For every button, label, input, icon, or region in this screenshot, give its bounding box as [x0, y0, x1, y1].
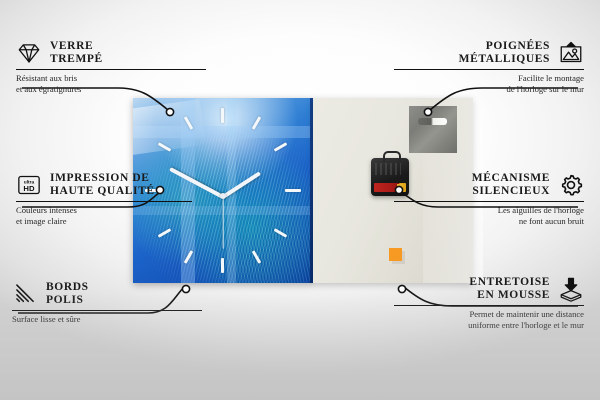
ultra-hd-icon: ultra HD — [16, 172, 42, 198]
feature-divider — [394, 69, 584, 70]
feature-divider — [394, 305, 584, 306]
feature-title: VERRE TREMPÉ — [50, 40, 103, 66]
feature-title: IMPRESSION DE HAUTE QUALITÉ — [50, 172, 155, 198]
feature-divider — [16, 201, 192, 202]
diamond-icon — [16, 40, 42, 66]
infographic-canvas: VERRE TREMPÉ Résistant aux bris et aux é… — [0, 0, 600, 400]
feature-impression-haute-qualite: ultra HD IMPRESSION DE HAUTE QUALITÉ Cou… — [16, 172, 192, 226]
feature-header: MÉCANISME SILENCIEUX — [394, 172, 584, 198]
handle-keyhole-slot — [418, 118, 447, 125]
foam-spacer — [389, 248, 402, 261]
feature-title: MÉCANISME SILENCIEUX — [472, 172, 550, 198]
second-hand — [222, 197, 223, 249]
feature-entretoise-en-mousse: ENTRETOISE EN MOUSSE Permet de maintenir… — [394, 276, 584, 330]
feature-description: Facilite le montage de l'horloge sur le … — [394, 73, 584, 94]
feature-poignees-metalliques: POIGNÉES MÉTALLIQUES Facilite le montage… — [394, 40, 584, 94]
hour-marker — [221, 258, 224, 273]
feature-description: Permet de maintenir une distance uniform… — [394, 309, 584, 330]
hanging-picture-icon — [558, 40, 584, 66]
feature-description: Les aiguilles de l'horloge ne font aucun… — [394, 205, 584, 226]
metal-handle-plate — [409, 106, 457, 153]
feature-bords-polis: BORDS POLIS Surface lisse et sûre — [12, 281, 202, 325]
hour-marker — [221, 108, 224, 123]
feature-divider — [394, 201, 584, 202]
feature-header: ENTRETOISE EN MOUSSE — [394, 276, 584, 302]
feature-title: ENTRETOISE EN MOUSSE — [469, 276, 550, 302]
feature-description: Résistant aux bris et aux égratignures — [16, 73, 206, 94]
feature-divider — [16, 69, 206, 70]
svg-text:HD: HD — [23, 184, 35, 193]
feature-header: POIGNÉES MÉTALLIQUES — [394, 40, 584, 66]
feature-title: POIGNÉES MÉTALLIQUES — [459, 40, 550, 66]
feature-mecanisme-silencieux: MÉCANISME SILENCIEUX Les aiguilles de l'… — [394, 172, 584, 226]
feature-divider — [12, 310, 202, 311]
clock-center-pin — [220, 193, 226, 199]
movement-hanger-hook — [383, 151, 401, 162]
gear-icon — [558, 172, 584, 198]
feature-header: BORDS POLIS — [12, 281, 202, 307]
polished-edge-icon — [12, 281, 38, 307]
feature-description: Surface lisse et sûre — [12, 314, 202, 325]
foam-spacer-icon — [558, 276, 584, 302]
feature-description: Couleurs intenses et image claire — [16, 205, 192, 226]
feature-header: ultra HD IMPRESSION DE HAUTE QUALITÉ — [16, 172, 192, 198]
feature-header: VERRE TREMPÉ — [16, 40, 206, 66]
feature-verre-trempe: VERRE TREMPÉ Résistant aux bris et aux é… — [16, 40, 206, 94]
feature-title: BORDS POLIS — [46, 281, 89, 307]
hour-marker — [285, 189, 301, 192]
